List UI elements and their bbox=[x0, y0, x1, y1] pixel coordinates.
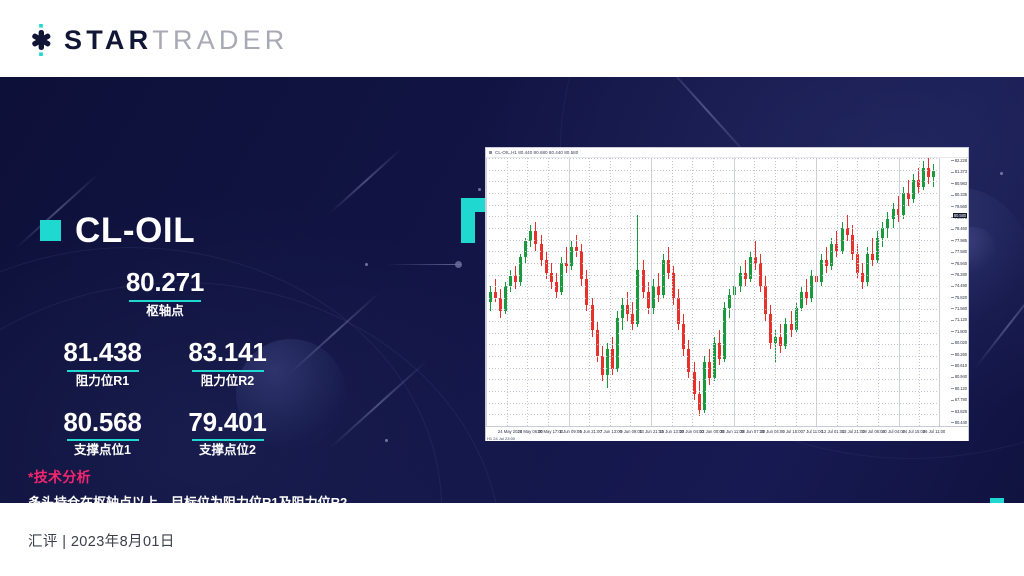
grid-line-vertical bbox=[692, 158, 693, 426]
candlestick bbox=[841, 158, 844, 426]
candlestick bbox=[871, 158, 874, 426]
chart-plot-area[interactable] bbox=[486, 158, 940, 426]
decor-hairline bbox=[386, 264, 461, 265]
support-1-label: 支撑点位1 bbox=[40, 444, 165, 458]
grid-line-vertical bbox=[527, 158, 528, 426]
support-2-label: 支撑点位2 bbox=[165, 444, 290, 458]
price-tick-label: 79.560 bbox=[955, 205, 967, 209]
candlestick bbox=[759, 158, 762, 426]
time-tick-label: 7 Jun 13:00 bbox=[600, 429, 622, 434]
grid-line-horizontal bbox=[486, 379, 940, 380]
candlestick bbox=[851, 158, 854, 426]
price-tick-label: 80.120 bbox=[955, 387, 967, 391]
chart-title-text: CL-OIL,H1 80.440 80.680 80.440 80.580 bbox=[495, 150, 578, 155]
support-2-value: 79.401 bbox=[165, 409, 290, 437]
candlestick bbox=[560, 158, 563, 426]
pivot-underline bbox=[192, 370, 264, 372]
candlestick bbox=[667, 158, 670, 426]
price-tick-label: 77.580 bbox=[955, 250, 967, 254]
candlestick bbox=[830, 158, 833, 426]
grid-line-horizontal bbox=[486, 170, 940, 171]
resistance-1-value: 81.438 bbox=[40, 339, 165, 367]
candlestick bbox=[739, 158, 742, 426]
candlestick bbox=[494, 158, 497, 426]
brand-name-bold: STAR bbox=[64, 25, 152, 55]
grid-line-horizontal bbox=[486, 298, 940, 299]
candlestick bbox=[892, 158, 895, 426]
candlestick bbox=[784, 158, 787, 426]
analysis-heading: *技术分析 bbox=[28, 467, 408, 487]
grid-line-vertical bbox=[486, 158, 487, 426]
candlestick bbox=[489, 158, 492, 426]
grid-line-horizontal bbox=[486, 344, 940, 345]
grid-line-horizontal bbox=[486, 275, 940, 276]
grid-line-horizontal bbox=[486, 333, 940, 334]
grid-line-vertical bbox=[796, 158, 797, 426]
time-tick-label: 7 Jul 11:00 bbox=[803, 429, 823, 434]
pivot-underline bbox=[67, 439, 139, 441]
support-1-value: 80.568 bbox=[40, 409, 165, 437]
price-tick-label: 80.983 bbox=[955, 182, 967, 186]
candlestick bbox=[575, 158, 578, 426]
resistance-1-label: 阻力位R1 bbox=[40, 375, 165, 389]
price-chart[interactable]: CL-OIL,H1 80.440 80.680 80.440 80.580 82… bbox=[486, 148, 968, 440]
candlestick bbox=[932, 158, 935, 426]
candlestick bbox=[626, 158, 629, 426]
pivot-point-cell: 80.271 枢轴点 bbox=[40, 269, 290, 318]
price-tick-label: 82.228 bbox=[955, 159, 967, 163]
candlestick bbox=[636, 158, 639, 426]
grid-line-vertical bbox=[754, 158, 755, 426]
support-2-cell: 79.401 支撑点位2 bbox=[165, 409, 290, 458]
price-tick-label: 80.020 bbox=[955, 341, 967, 345]
candlestick bbox=[606, 158, 609, 426]
grid-line-horizontal bbox=[486, 391, 940, 392]
grid-line-horizontal bbox=[486, 228, 940, 229]
candlestick bbox=[514, 158, 517, 426]
price-tick-label: 80.260 bbox=[955, 353, 967, 357]
grid-line-horizontal bbox=[486, 193, 940, 194]
grid-line-horizontal bbox=[486, 216, 940, 217]
chart-plot-wrap: 82.22881.37380.98380.33579.56079.07078.4… bbox=[486, 158, 968, 426]
candlestick bbox=[703, 158, 706, 426]
candlestick bbox=[693, 158, 696, 426]
candlestick bbox=[596, 158, 599, 426]
grid-line-vertical bbox=[589, 158, 590, 426]
candlestick bbox=[657, 158, 660, 426]
pivot-levels: 80.271 枢轴点 81.438 阻力位R1 83.141 阻力位R2 bbox=[40, 269, 290, 458]
candlestick bbox=[779, 158, 782, 426]
candlestick bbox=[591, 158, 594, 426]
page-footer: 汇评 | 2023年8月01日 bbox=[0, 503, 1024, 576]
pivot-point-label: 枢轴点 bbox=[40, 305, 290, 319]
price-tick-label: 76.940 bbox=[955, 262, 967, 266]
candlestick bbox=[881, 158, 884, 426]
grid-line-vertical bbox=[630, 158, 631, 426]
analysis-heading-text: 技术分析 bbox=[34, 469, 91, 485]
pivot-row-resistance: 81.438 阻力位R1 83.141 阻力位R2 bbox=[40, 339, 290, 388]
brand-wordmark: STARTRADER bbox=[64, 27, 289, 54]
price-tick-label: 80.610 bbox=[955, 364, 967, 368]
candlestick bbox=[907, 158, 910, 426]
candlestick bbox=[580, 158, 583, 426]
candlestick bbox=[642, 158, 645, 426]
candlestick bbox=[723, 158, 726, 426]
resistance-2-cell: 83.141 阻力位R2 bbox=[165, 339, 290, 388]
grid-line-vertical bbox=[919, 158, 920, 426]
candlestick bbox=[861, 158, 864, 426]
candlestick bbox=[749, 158, 752, 426]
candlestick bbox=[621, 158, 624, 426]
pivot-row-main: 80.271 枢轴点 bbox=[40, 269, 290, 318]
grid-line-vertical bbox=[651, 158, 652, 426]
candlestick bbox=[519, 158, 522, 426]
grid-line-horizontal bbox=[486, 251, 940, 252]
candlestick bbox=[922, 158, 925, 426]
candlestick bbox=[718, 158, 721, 426]
pivot-underline bbox=[192, 439, 264, 441]
grid-line-vertical bbox=[672, 158, 673, 426]
candlestick bbox=[616, 158, 619, 426]
grid-line-horizontal bbox=[486, 240, 940, 241]
candlestick bbox=[540, 158, 543, 426]
candlestick bbox=[800, 158, 803, 426]
candlestick bbox=[886, 158, 889, 426]
time-tick-label: 5 Jun 21:00 bbox=[580, 429, 602, 434]
candlestick bbox=[534, 158, 537, 426]
current-price-badge: 80.580 bbox=[953, 213, 967, 218]
candlestick bbox=[846, 158, 849, 426]
grid-line-horizontal bbox=[486, 356, 940, 357]
candlestick bbox=[570, 158, 573, 426]
pivot-underline bbox=[129, 300, 201, 302]
time-tick-label: 26 Jul 11:00 bbox=[923, 429, 946, 434]
time-axis[interactable]: H1 24 Jul 23:00 24 May 202326 May 06:003… bbox=[486, 426, 968, 441]
grid-line-horizontal bbox=[486, 414, 940, 415]
candlestick bbox=[682, 158, 685, 426]
grid-line-vertical bbox=[899, 158, 900, 426]
price-tick-label: 71.120 bbox=[955, 318, 967, 322]
candlestick bbox=[912, 158, 915, 426]
asterisk-star-icon bbox=[27, 24, 57, 56]
chart-window-icon bbox=[489, 151, 492, 154]
candlestick bbox=[698, 158, 701, 426]
page-header: STARTRADER bbox=[0, 0, 1024, 77]
candlestick bbox=[866, 158, 869, 426]
price-tick-label: 75.820 bbox=[955, 296, 967, 300]
grid-line-vertical bbox=[775, 158, 776, 426]
candlestick bbox=[652, 158, 655, 426]
candlestick bbox=[902, 158, 905, 426]
grid-line-horizontal bbox=[486, 309, 940, 310]
candlestick bbox=[550, 158, 553, 426]
page-title: CL-OIL bbox=[75, 213, 195, 248]
candlestick bbox=[509, 158, 512, 426]
candlestick bbox=[927, 158, 930, 426]
grid-line-vertical bbox=[548, 158, 549, 426]
price-tick-label: 81.373 bbox=[955, 170, 967, 174]
candlestick bbox=[708, 158, 711, 426]
candlestick bbox=[764, 158, 767, 426]
grid-line-horizontal bbox=[486, 403, 940, 404]
price-tick-label: 76.280 bbox=[955, 273, 967, 277]
time-tick-label: 1 Jun 09:00 bbox=[560, 429, 582, 434]
candlestick bbox=[744, 158, 747, 426]
grid-line-horizontal bbox=[486, 368, 940, 369]
brand-name-light: TRADER bbox=[152, 25, 288, 55]
decor-dot-1 bbox=[365, 263, 368, 266]
grid-line-vertical bbox=[713, 158, 714, 426]
price-tick-label: 80.440 bbox=[955, 421, 967, 425]
time-tick-label: 5 Jul 15:00 bbox=[782, 429, 803, 434]
chart-status-text: H1 24 Jul 23:00 bbox=[487, 436, 515, 441]
footer-date-text: 汇评 | 2023年8月01日 bbox=[28, 530, 175, 551]
price-tick-label: 77.985 bbox=[955, 239, 967, 243]
grid-line-vertical bbox=[837, 158, 838, 426]
resistance-2-label: 阻力位R2 bbox=[165, 375, 290, 389]
pivot-row-support: 80.568 支撑点位1 79.401 支撑点位2 bbox=[40, 409, 290, 458]
analysis-line-1: 多头持仓在枢轴点以上，目标位为阻力位R1及阻力位R2。 bbox=[28, 493, 408, 503]
brand-logo[interactable]: STARTRADER bbox=[27, 24, 289, 56]
instrument-marker-icon bbox=[40, 220, 61, 241]
pivot-underline bbox=[67, 370, 139, 372]
candlestick bbox=[790, 158, 793, 426]
grid-line-horizontal bbox=[486, 158, 940, 159]
resistance-2-value: 83.141 bbox=[165, 339, 290, 367]
candlestick bbox=[769, 158, 772, 426]
time-tick-label: 30 Jun 04:00 bbox=[760, 429, 784, 434]
support-1-cell: 80.568 支撑点位1 bbox=[40, 409, 165, 458]
candlestick bbox=[647, 158, 650, 426]
candlestick bbox=[565, 158, 568, 426]
pivot-point-value: 80.271 bbox=[40, 269, 290, 297]
price-tick-label: 67.780 bbox=[955, 398, 967, 402]
price-tick-label: 80.940 bbox=[955, 375, 967, 379]
candlestick bbox=[805, 158, 808, 426]
candlestick bbox=[825, 158, 828, 426]
grid-line-vertical bbox=[734, 158, 735, 426]
candlestick bbox=[611, 158, 614, 426]
candlestick bbox=[728, 158, 731, 426]
price-tick-label: 78.460 bbox=[955, 227, 967, 231]
grid-line-vertical bbox=[878, 158, 879, 426]
candlestick bbox=[662, 158, 665, 426]
decor-dot-3 bbox=[385, 439, 388, 442]
grid-line-vertical bbox=[816, 158, 817, 426]
instrument-title-row: CL-OIL bbox=[40, 213, 195, 248]
candlestick bbox=[677, 158, 680, 426]
candlestick bbox=[687, 158, 690, 426]
price-tick-label: 71.560 bbox=[955, 307, 967, 311]
technical-analysis-block: *技术分析 多头持仓在枢轴点以上，目标位为阻力位R1及阻力位R2。 若低于枢轴点… bbox=[28, 467, 408, 503]
grid-line-vertical bbox=[857, 158, 858, 426]
slide-canvas: STARTRADER CL-OIL bbox=[0, 0, 1024, 576]
decor-dot-accent bbox=[455, 261, 462, 268]
candlestick bbox=[555, 158, 558, 426]
candlestick bbox=[810, 158, 813, 426]
grid-line-vertical bbox=[507, 158, 508, 426]
candlestick bbox=[601, 158, 604, 426]
price-tick-label: 71.800 bbox=[955, 330, 967, 334]
grid-line-vertical bbox=[610, 158, 611, 426]
grid-line-horizontal bbox=[486, 263, 940, 264]
candlestick bbox=[820, 158, 823, 426]
resistance-1-cell: 81.438 阻力位R1 bbox=[40, 339, 165, 388]
price-tick-label: 80.335 bbox=[955, 193, 967, 197]
candlestick bbox=[631, 158, 634, 426]
grid-line-horizontal bbox=[486, 321, 940, 322]
grid-line-vertical bbox=[569, 158, 570, 426]
decor-dot-2 bbox=[478, 188, 481, 191]
candlestick bbox=[499, 158, 502, 426]
grid-line-horizontal bbox=[486, 205, 940, 206]
price-tick-label: 74.490 bbox=[955, 284, 967, 288]
grid-line-horizontal bbox=[486, 181, 940, 182]
chart-title-bar: CL-OIL,H1 80.440 80.680 80.440 80.580 bbox=[486, 148, 968, 158]
grid-line-horizontal bbox=[486, 286, 940, 287]
price-axis[interactable]: 82.22881.37380.98380.33579.56079.07078.4… bbox=[939, 158, 968, 426]
candlestick bbox=[529, 158, 532, 426]
price-tick-label: 63.825 bbox=[955, 410, 967, 414]
decor-dot-5 bbox=[1000, 172, 1003, 175]
